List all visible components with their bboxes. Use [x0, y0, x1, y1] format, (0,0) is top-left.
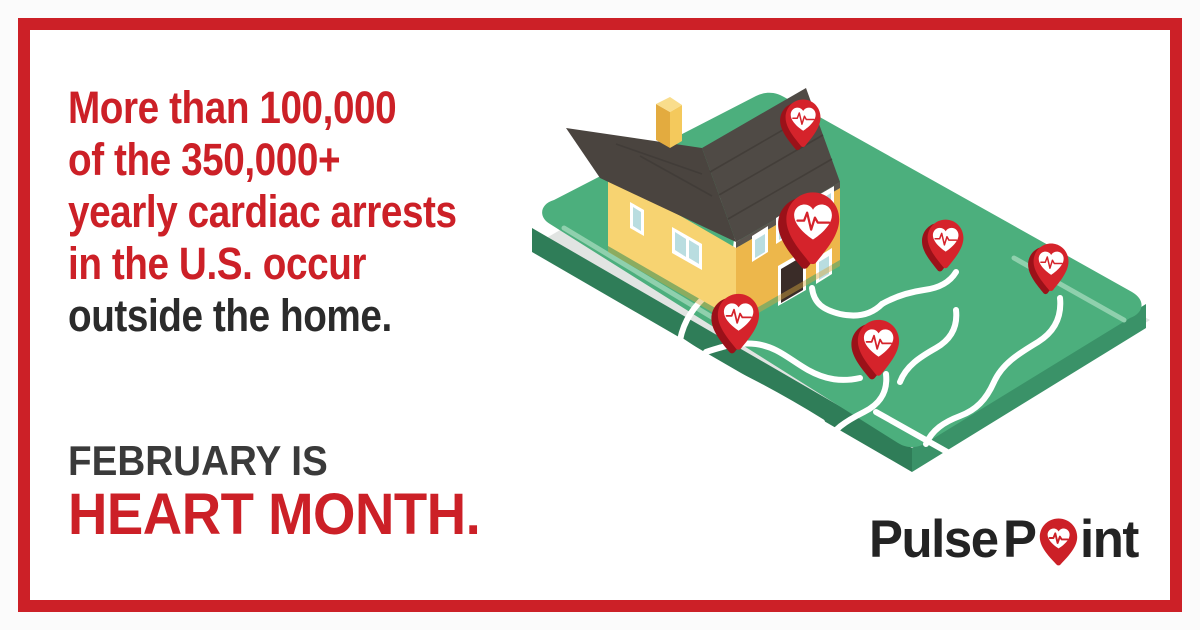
- month-callout-top-line: FEBRUARY IS: [68, 438, 500, 484]
- infographic-poster: More than 100,000 of the 350,000+ yearly…: [0, 0, 1200, 630]
- logo-word-p: P: [1003, 513, 1036, 566]
- logo-word-pulse: Pulse: [869, 513, 998, 566]
- house-chimney: [656, 97, 682, 148]
- isometric-neighborhood-map: [520, 52, 1160, 502]
- headline-line-2: of the 350,000+: [68, 134, 472, 186]
- headline-line-3: yearly cardiac arrests: [68, 186, 472, 238]
- headline-line-4: in the U.S. occur: [68, 238, 472, 290]
- pulsepoint-logo[interactable]: Pulse P int: [869, 512, 1140, 566]
- month-callout-block: FEBRUARY IS HEART MONTH.: [68, 438, 538, 546]
- heart-pulse-pin-icon: [1038, 517, 1079, 567]
- logo-word-int: int: [1080, 513, 1138, 566]
- headline-line-5: outside the home.: [68, 290, 472, 342]
- month-callout-bottom-line: HEART MONTH.: [68, 484, 510, 546]
- poster-canvas: More than 100,000 of the 350,000+ yearly…: [30, 30, 1170, 600]
- map-illustration-svg: [520, 52, 1160, 502]
- headline-line-1: More than 100,000: [68, 82, 472, 134]
- headline-block: More than 100,000 of the 350,000+ yearly…: [68, 82, 538, 342]
